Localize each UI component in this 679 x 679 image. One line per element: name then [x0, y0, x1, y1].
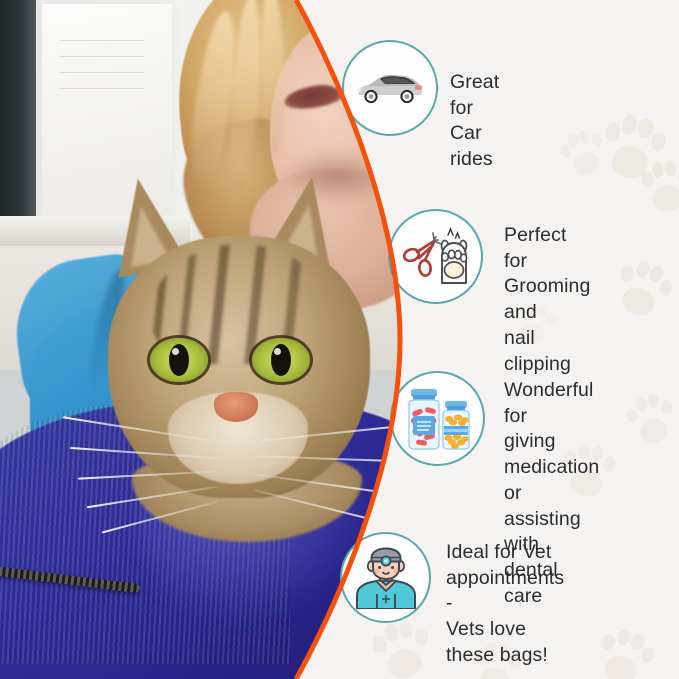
feature-list: Great for Car rides	[0, 0, 679, 679]
pill-bottles-icon-circle[interactable]	[390, 371, 485, 466]
feature-label-car-rides: Great for Car rides	[450, 70, 499, 173]
car-icon	[355, 71, 425, 105]
feature-label-grooming: Perfect for Grooming and nail clipping	[504, 223, 590, 377]
nail-clippers-paw-icon-circle[interactable]	[388, 209, 483, 304]
veterinarian-icon-circle[interactable]	[340, 532, 431, 623]
car-icon-circle[interactable]	[342, 40, 438, 136]
veterinarian-icon	[352, 547, 420, 609]
nail-clippers-paw-icon	[403, 227, 469, 287]
infographic-page: Great for Car rides	[0, 0, 679, 679]
feature-label-vet: Ideal for Vet appointments - Vets love t…	[446, 540, 564, 669]
pill-bottles-icon	[403, 386, 473, 452]
